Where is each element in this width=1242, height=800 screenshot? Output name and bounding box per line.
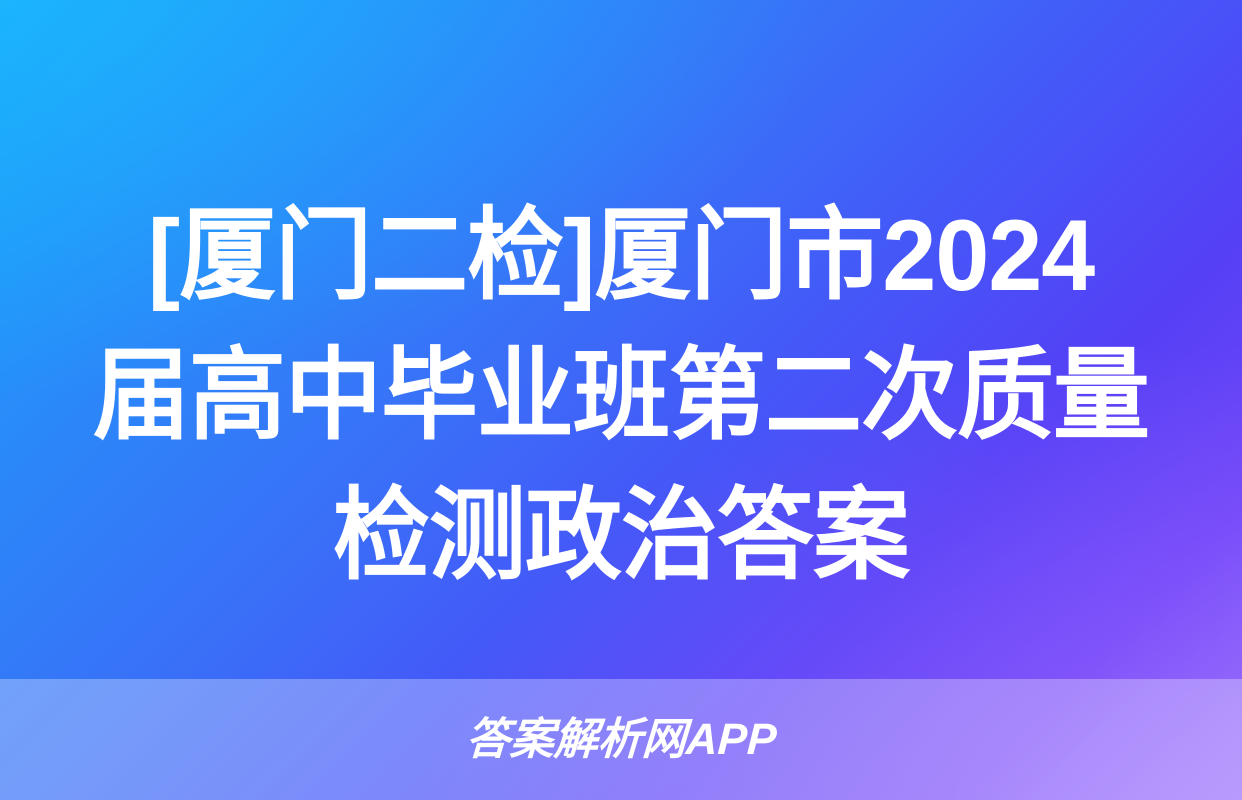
watermark-label: 答案解析网APP [465,718,778,762]
title-line-3: 检测政治答案 [63,466,1179,606]
watermark-band: 答案解析网APP [0,679,1242,800]
page-title: [厦门二检]厦门市2024 届高中毕业班第二次质量 检测政治答案 [0,186,1242,606]
title-line-2: 届高中毕业班第二次质量 [63,326,1179,466]
title-line-1: [厦门二检]厦门市2024 [63,186,1179,326]
promo-banner: [厦门二检]厦门市2024 届高中毕业班第二次质量 检测政治答案 答案解析网AP… [0,0,1242,800]
